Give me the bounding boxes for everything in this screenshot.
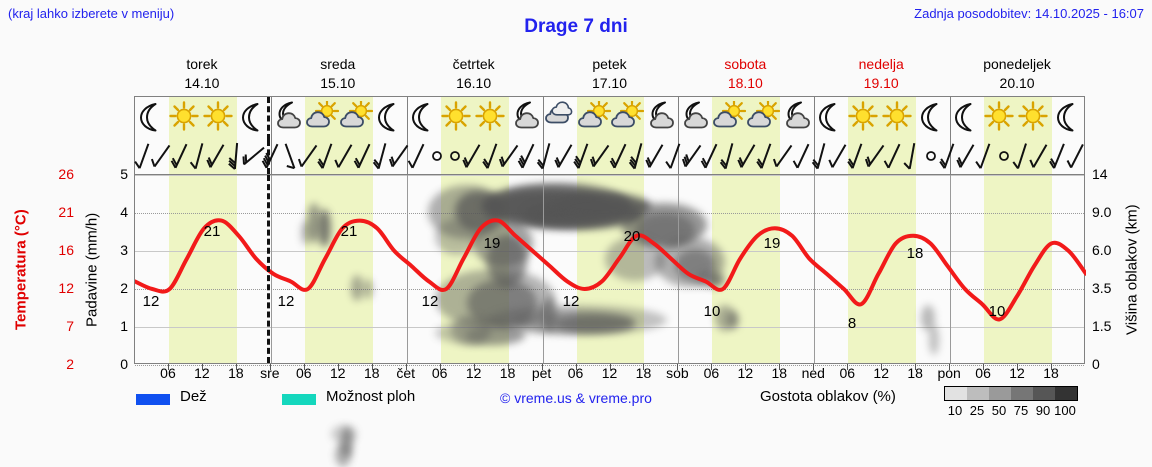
x-axis-tick (1051, 364, 1052, 370)
day-name: sreda (270, 55, 406, 74)
moon-cloud-icon (780, 101, 814, 137)
legend-showers-swatch (282, 394, 316, 405)
cloud-icon (543, 101, 577, 137)
sun-icon (441, 101, 475, 137)
temperature-value-label: 19 (480, 235, 504, 252)
day-name: četrtek (406, 55, 542, 74)
sun-cloud-icon (712, 101, 746, 137)
x-axis-tick (847, 364, 848, 370)
x-axis-tick (779, 364, 780, 370)
cloud-height-tick: 1.5 (1092, 318, 1122, 334)
day-date: 16.10 (406, 74, 542, 93)
precipitation-axis-title: Padavine (mm/h) (80, 175, 104, 365)
precipitation-tick: 4 (108, 204, 128, 220)
x-axis-tick (711, 364, 712, 370)
temperature-value-label: 21 (337, 223, 361, 240)
day-header-1: torek14.10 (134, 55, 270, 93)
cloud-density-step (1033, 387, 1055, 400)
day-name: petek (542, 55, 678, 74)
day-name: ponedeljek (949, 55, 1085, 74)
moon-cloud-icon (678, 101, 712, 137)
moon-icon (814, 101, 848, 137)
x-axis-tick (881, 364, 882, 370)
temperature-tick: 16 (40, 242, 74, 258)
cloud-density-step (1011, 387, 1033, 400)
cloud-height-tick: 9.0 (1092, 204, 1122, 220)
day-header-2: sreda15.10 (270, 55, 406, 93)
precipitation-tick: 2 (108, 280, 128, 296)
x-axis-tick (474, 364, 475, 370)
x-axis-tick (745, 364, 746, 370)
cloud-density-step (967, 387, 989, 400)
day-name: torek (134, 55, 270, 74)
day-date: 19.10 (813, 74, 949, 93)
x-axis-tick (677, 364, 678, 370)
day-header-3: četrtek16.10 (406, 55, 542, 93)
cloud-height-tick: 0 (1092, 356, 1122, 372)
temperature-curve (135, 175, 1086, 365)
day-date: 15.10 (270, 74, 406, 93)
cloud-height-tick: 14 (1092, 166, 1122, 182)
temperature-tick: 26 (40, 166, 74, 182)
day-date: 17.10 (542, 74, 678, 93)
moon-icon (407, 101, 441, 137)
sun-cloud-icon (305, 101, 339, 137)
cloud-density-title: Gostota oblakov (%) (760, 388, 896, 405)
current-time-marker (267, 140, 270, 174)
temperature-value-label: 12 (139, 293, 163, 310)
temperature-value-label: 12 (274, 293, 298, 310)
temperature-value-label: 12 (559, 293, 583, 310)
wind-barb (1064, 140, 1090, 174)
sun-icon (1018, 101, 1052, 137)
precipitation-tick: 0 (108, 356, 128, 372)
sun-icon (475, 101, 509, 137)
cloud-density-step (989, 387, 1011, 400)
moon-cloud-icon (644, 101, 678, 137)
temperature-value-label: 10 (700, 303, 724, 320)
moon-icon (916, 101, 950, 137)
moon-cloud-icon (509, 101, 543, 137)
day-header-band: torek14.10sreda15.10četrtek16.10petek17.… (134, 55, 1085, 95)
precipitation-tick: 5 (108, 166, 128, 182)
sun-cloud-icon (577, 101, 611, 137)
sun-icon (984, 101, 1018, 137)
legend-rain-swatch (136, 394, 170, 405)
day-header-4: petek17.10 (542, 55, 678, 93)
temperature-value-label: 21 (200, 223, 224, 240)
x-axis-tick (949, 364, 950, 370)
x-axis-tick (270, 364, 271, 370)
sun-icon (882, 101, 916, 137)
sun-cloud-icon (610, 101, 644, 137)
cloud-height-tick: 6.0 (1092, 242, 1122, 258)
temperature-tick: 2 (40, 356, 74, 372)
weather-icon-row (134, 96, 1085, 140)
x-axis-tick (643, 364, 644, 370)
temperature-tick: 21 (40, 204, 74, 220)
day-header-7: ponedeljek20.10 (949, 55, 1085, 93)
sun-cloud-icon (339, 101, 373, 137)
current-time-marker (267, 97, 270, 140)
day-name: sobota (677, 55, 813, 74)
cloud-density-step (1055, 387, 1077, 400)
day-date: 14.10 (134, 74, 270, 93)
day-header-5: sobota18.10 (677, 55, 813, 93)
x-axis-tick (338, 364, 339, 370)
moon-icon (237, 101, 271, 137)
moon-icon (950, 101, 984, 137)
day-name: nedelja (813, 55, 949, 74)
temperature-axis-title: Temperatura (°C) (8, 175, 34, 365)
temperature-value-label: 8 (840, 315, 864, 332)
x-axis-tick (542, 364, 543, 370)
forecast-chart: 1221122112191220101981810 (134, 174, 1085, 364)
x-axis-tick (168, 364, 169, 370)
temperature-tick: 12 (40, 280, 74, 296)
x-axis-tick (236, 364, 237, 370)
day-date: 20.10 (949, 74, 1085, 93)
temperature-value-label: 19 (760, 235, 784, 252)
cloud-height-axis-title: Višina oblakov (km) (1120, 175, 1144, 365)
day-header-6: nedelja19.10 (813, 55, 949, 93)
temperature-value-label: 20 (620, 228, 644, 245)
precipitation-tick: 3 (108, 242, 128, 258)
cloud-density-step (945, 387, 967, 400)
x-axis-tick (406, 364, 407, 370)
x-axis-tick (983, 364, 984, 370)
temperature-value-label: 12 (418, 293, 442, 310)
x-axis-tick (508, 364, 509, 370)
temperature-value-label: 18 (903, 245, 927, 262)
legend-rain-label: Dež (180, 388, 207, 405)
x-axis-tick (576, 364, 577, 370)
x-axis-tick (610, 364, 611, 370)
x-axis-tick (813, 364, 814, 370)
sun-icon (203, 101, 237, 137)
x-axis-tick (440, 364, 441, 370)
sun-cloud-icon (746, 101, 780, 137)
moon-icon (373, 101, 407, 137)
copyright-link[interactable]: © vreme.us & vreme.pro (500, 390, 652, 406)
x-axis-tick (202, 364, 203, 370)
cloud-density-step-label: 100 (1048, 403, 1082, 418)
current-time-marker (267, 175, 270, 363)
temperature-tick: 7 (40, 318, 74, 334)
x-axis-tick (372, 364, 373, 370)
x-axis-tick (915, 364, 916, 370)
x-axis-tick (304, 364, 305, 370)
sun-icon (848, 101, 882, 137)
moon-icon (1052, 101, 1086, 137)
day-date: 18.10 (677, 74, 813, 93)
moon-cloud-icon (271, 101, 305, 137)
weather-forecast-page: (kraj lahko izberete v meniju) Drage 7 d… (0, 0, 1152, 443)
last-updated: Zadnja posodobitev: 14.10.2025 - 16:07 (914, 6, 1144, 21)
cloud-density-scale-bar (944, 386, 1078, 401)
temperature-value-label: 10 (985, 303, 1009, 320)
x-axis-tick (1017, 364, 1018, 370)
sun-icon (169, 101, 203, 137)
cloud-density-patch (341, 427, 353, 457)
legend-showers-label: Možnost ploh (326, 388, 415, 405)
cloud-height-tick: 3.5 (1092, 280, 1122, 296)
precipitation-tick: 1 (108, 318, 128, 334)
moon-icon (135, 101, 169, 137)
wind-barb-row (134, 140, 1085, 174)
